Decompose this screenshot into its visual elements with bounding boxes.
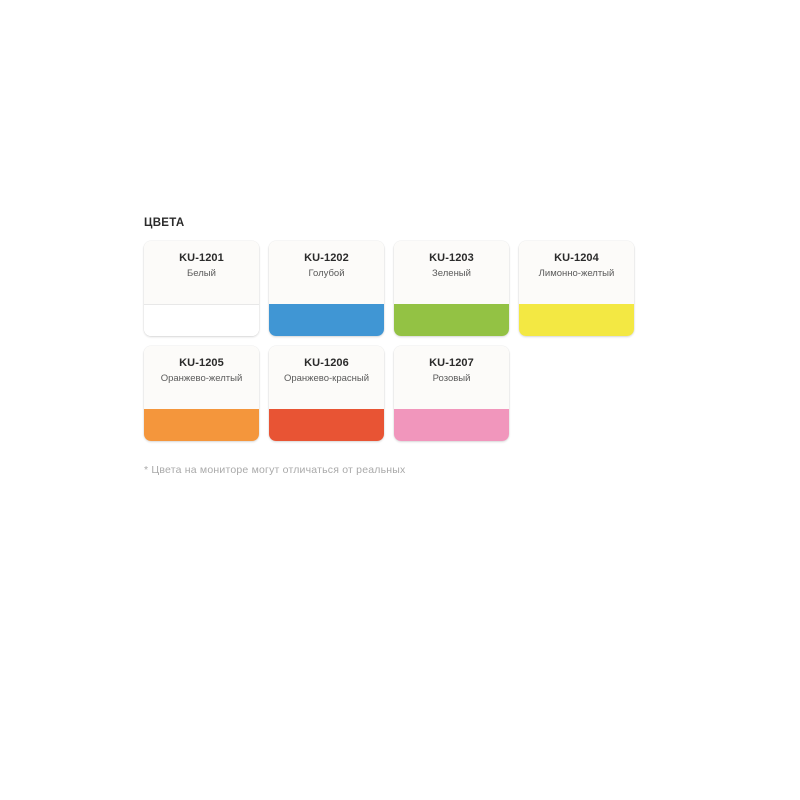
color-swatch-name: Зеленый bbox=[432, 267, 471, 280]
color-swatch-name: Голубой bbox=[308, 267, 344, 280]
page-title: ЦВЕТА bbox=[144, 216, 664, 230]
color-swatch-chip bbox=[144, 304, 259, 336]
color-swatch-label: KU-1201Белый bbox=[144, 241, 259, 304]
color-swatch-card[interactable]: KU-1207Розовый bbox=[394, 346, 509, 441]
color-swatch-card[interactable]: KU-1205Оранжево-желтый bbox=[144, 346, 259, 441]
color-swatch-card[interactable]: KU-1204Лимонно-желтый bbox=[519, 241, 634, 336]
color-swatch-name: Оранжево-красный bbox=[284, 372, 369, 385]
colors-section: ЦВЕТА KU-1201БелыйKU-1202ГолубойKU-1203З… bbox=[144, 216, 664, 489]
color-swatch-label: KU-1203Зеленый bbox=[394, 241, 509, 304]
color-swatch-chip bbox=[394, 409, 509, 441]
color-swatch-chip bbox=[394, 304, 509, 336]
color-swatch-label: KU-1204Лимонно-желтый bbox=[519, 241, 634, 304]
page-root: ЦВЕТА KU-1201БелыйKU-1202ГолубойKU-1203З… bbox=[0, 0, 800, 800]
color-swatch-label: KU-1206Оранжево-красный bbox=[269, 346, 384, 409]
color-swatch-label: KU-1205Оранжево-желтый bbox=[144, 346, 259, 409]
color-swatch-card[interactable]: KU-1202Голубой bbox=[269, 241, 384, 336]
color-swatch-grid: KU-1201БелыйKU-1202ГолубойKU-1203Зеленый… bbox=[144, 241, 664, 441]
color-swatch-chip bbox=[144, 409, 259, 441]
color-swatch-card[interactable]: KU-1206Оранжево-красный bbox=[269, 346, 384, 441]
color-swatch-code: KU-1201 bbox=[179, 251, 224, 265]
color-swatch-label: KU-1202Голубой bbox=[269, 241, 384, 304]
color-disclaimer-note: * Цвета на мониторе могут отличаться от … bbox=[144, 463, 664, 478]
color-swatch-name: Оранжево-желтый bbox=[161, 372, 243, 385]
color-swatch-code: KU-1206 bbox=[304, 356, 349, 370]
color-swatch-chip bbox=[269, 304, 384, 336]
color-swatch-name: Розовый bbox=[433, 372, 471, 385]
color-swatch-chip bbox=[269, 409, 384, 441]
color-swatch-label: KU-1207Розовый bbox=[394, 346, 509, 409]
color-swatch-code: KU-1205 bbox=[179, 356, 224, 370]
color-swatch-card[interactable]: KU-1203Зеленый bbox=[394, 241, 509, 336]
color-swatch-name: Белый bbox=[187, 267, 216, 280]
color-swatch-card[interactable]: KU-1201Белый bbox=[144, 241, 259, 336]
color-swatch-code: KU-1204 bbox=[554, 251, 599, 265]
color-swatch-name: Лимонно-желтый bbox=[539, 267, 615, 280]
color-swatch-code: KU-1202 bbox=[304, 251, 349, 265]
color-swatch-chip bbox=[519, 304, 634, 336]
color-swatch-code: KU-1203 bbox=[429, 251, 474, 265]
color-swatch-code: KU-1207 bbox=[429, 356, 474, 370]
